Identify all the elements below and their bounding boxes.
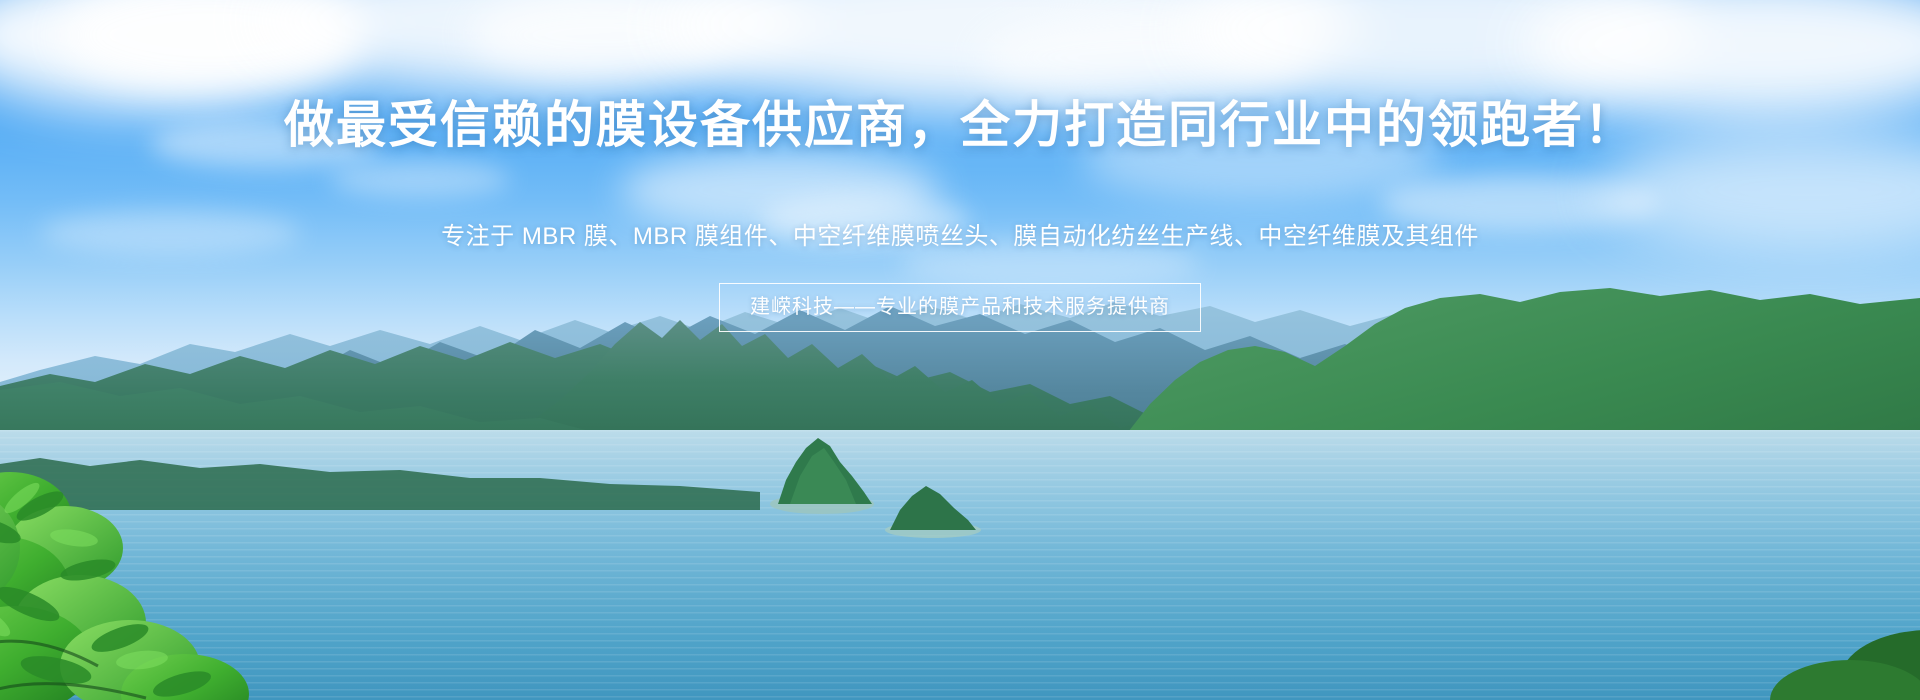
hero-banner: 做最受信赖的膜设备供应商，全力打造同行业中的领跑者！ 专注于 MBR 膜、MBR… (0, 0, 1920, 700)
islet-small (878, 470, 988, 540)
island-with-trees (760, 418, 890, 518)
banner-subheadline: 专注于 MBR 膜、MBR 膜组件、中空纤维膜喷丝头、膜自动化纺丝生产线、中空纤… (0, 222, 1920, 252)
foreground-foliage (0, 398, 300, 700)
tagline-box: 建嵘科技——专业的膜产品和技术服务提供商 (719, 283, 1201, 332)
banner-headline: 做最受信赖的膜设备供应商，全力打造同行业中的领跑者！ (0, 98, 1920, 152)
foreground-foliage-right (1660, 560, 1920, 700)
tagline-box-wrapper: 建嵘科技——专业的膜产品和技术服务提供商 (0, 283, 1920, 332)
